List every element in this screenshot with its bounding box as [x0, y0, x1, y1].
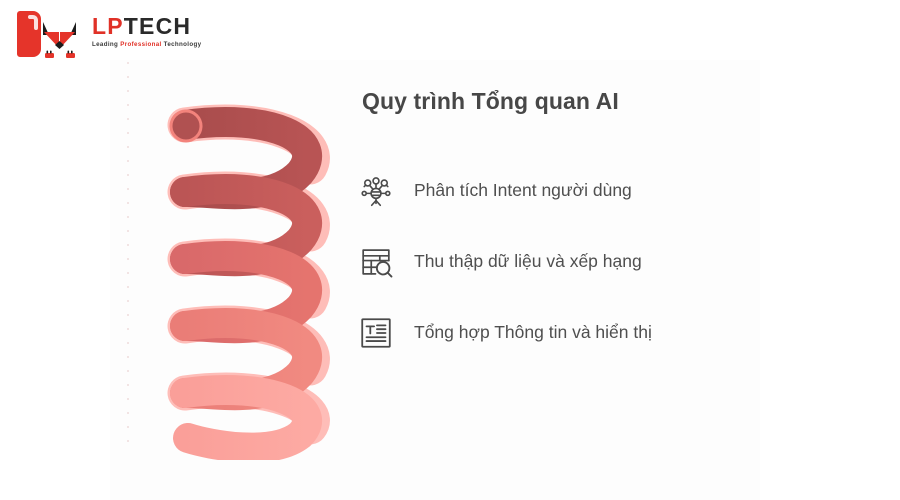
- brand-wordmark-lp: LP: [92, 13, 124, 39]
- list-item[interactable]: Thu thập dữ liệu và xếp hạng: [356, 242, 756, 282]
- list-item-label: Thu thập dữ liệu và xếp hạng: [414, 251, 642, 273]
- brand-text-block: LPTECH Leading Professional Technology: [92, 15, 212, 48]
- brand-tagline-word-2: Professional: [120, 41, 161, 48]
- brand-wordmark-tech: TECH: [124, 13, 191, 39]
- user-intent-analysis-icon: [356, 171, 396, 211]
- brand-logo[interactable]: LPTECH Leading Professional Technology: [14, 8, 214, 64]
- list-item[interactable]: Phân tích Intent người dùng: [356, 171, 756, 211]
- red-gradient-spiral-coil: [150, 95, 350, 460]
- brand-wordmark: LPTECH: [92, 15, 212, 38]
- brand-tagline-word-3: Technology: [164, 41, 202, 48]
- feature-list: Phân tích Intent người dùng: [356, 171, 756, 353]
- page-title: Quy trình Tổng quan AI: [362, 88, 756, 116]
- brand-tagline-word-1: Leading: [92, 41, 118, 48]
- table-search-icon: [356, 242, 396, 282]
- info-column: Quy trình Tổng quan AI: [356, 88, 756, 353]
- list-item-label: Phân tích Intent người dùng: [414, 180, 632, 202]
- list-item-label: Tổng hợp Thông tin và hiển thị: [414, 322, 652, 344]
- dotted-guide-line: [127, 62, 129, 452]
- lptech-fox-logo-icon: [14, 8, 88, 62]
- text-document-icon: [356, 313, 396, 353]
- list-item[interactable]: Tổng hợp Thông tin và hiển thị: [356, 313, 756, 353]
- brand-tagline: Leading Professional Technology: [92, 42, 212, 48]
